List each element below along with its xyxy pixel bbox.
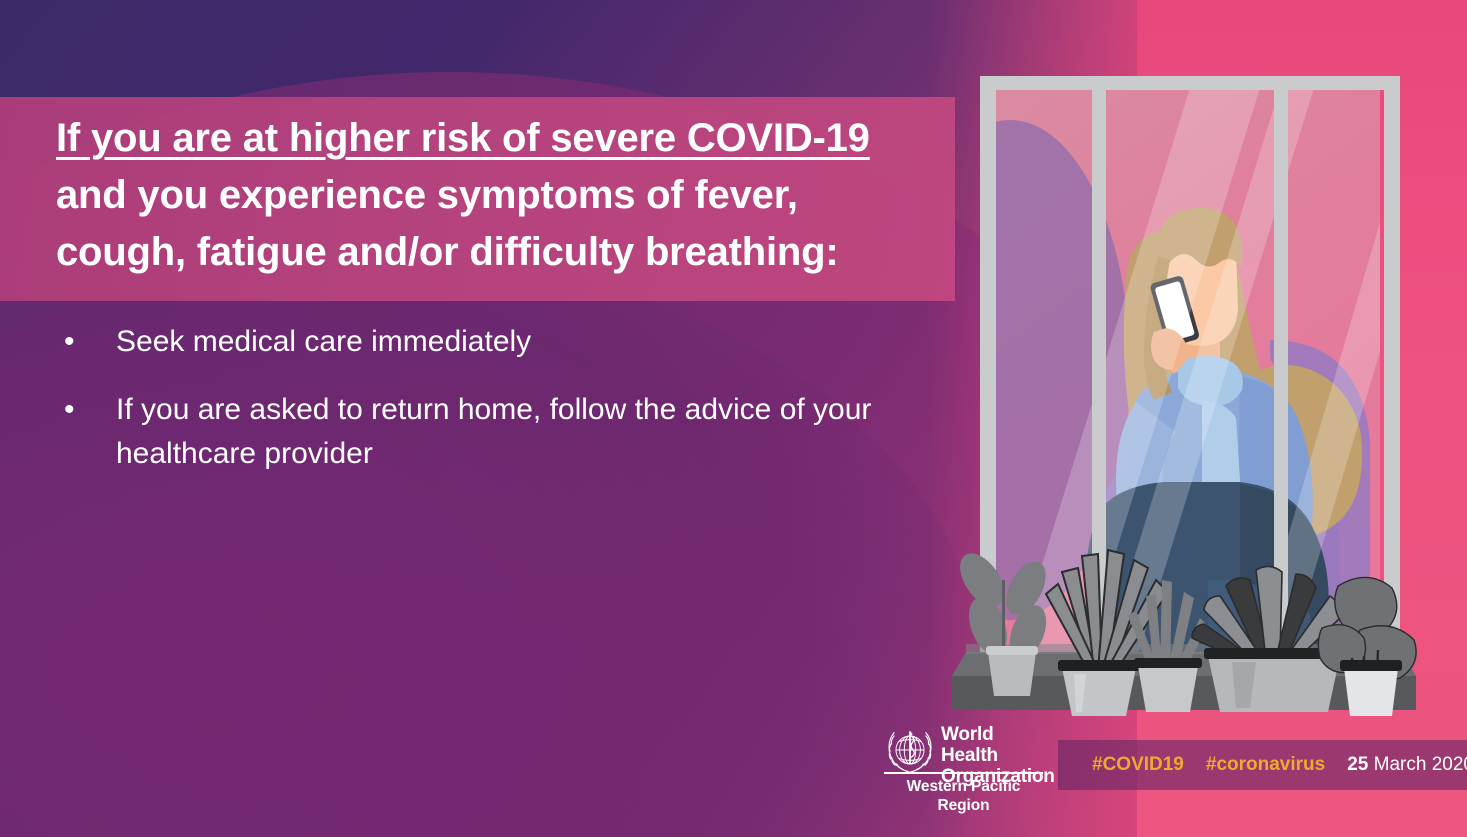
- page-title: If you are at higher risk of severe COVI…: [56, 110, 936, 281]
- list-item-label: Seek medical care immediately: [116, 320, 936, 364]
- woman-on-phone-at-window-illustration: [940, 40, 1440, 720]
- date-day: 25: [1347, 754, 1368, 775]
- logo-divider: [884, 772, 1043, 774]
- hashtag-covid19: #COVID19: [1092, 754, 1184, 776]
- headline-line-2: and you experience symptoms of fever,: [56, 167, 936, 224]
- who-region-label: Western Pacific Region: [884, 777, 1043, 815]
- headline-line-3: cough, fatigue and/or difficulty breathi…: [56, 224, 936, 281]
- who-covid19-infographic: If you are at higher risk of severe COVI…: [0, 0, 1467, 837]
- footer-content: #COVID19 #coronavirus 25 March 2020: [1092, 740, 1467, 790]
- publication-date: 25 March 2020: [1347, 754, 1467, 776]
- who-emblem-icon: [884, 724, 936, 776]
- bullet-marker-icon: •: [56, 320, 116, 364]
- who-name-line-1: World Health: [941, 724, 1055, 766]
- list-item: • If you are asked to return home, follo…: [56, 388, 936, 476]
- list-item-label: If you are asked to return home, follow …: [116, 388, 936, 476]
- hashtag-coronavirus: #coronavirus: [1206, 754, 1325, 776]
- headline-line-1: If you are at higher risk of severe COVI…: [56, 110, 936, 167]
- bullet-marker-icon: •: [56, 388, 116, 432]
- list-item: • Seek medical care immediately: [56, 320, 936, 364]
- who-logo: World Health Organization Western Pacifi…: [884, 722, 1044, 796]
- date-month-year: March 2020: [1368, 754, 1467, 775]
- advice-list: • Seek medical care immediately • If you…: [56, 320, 936, 500]
